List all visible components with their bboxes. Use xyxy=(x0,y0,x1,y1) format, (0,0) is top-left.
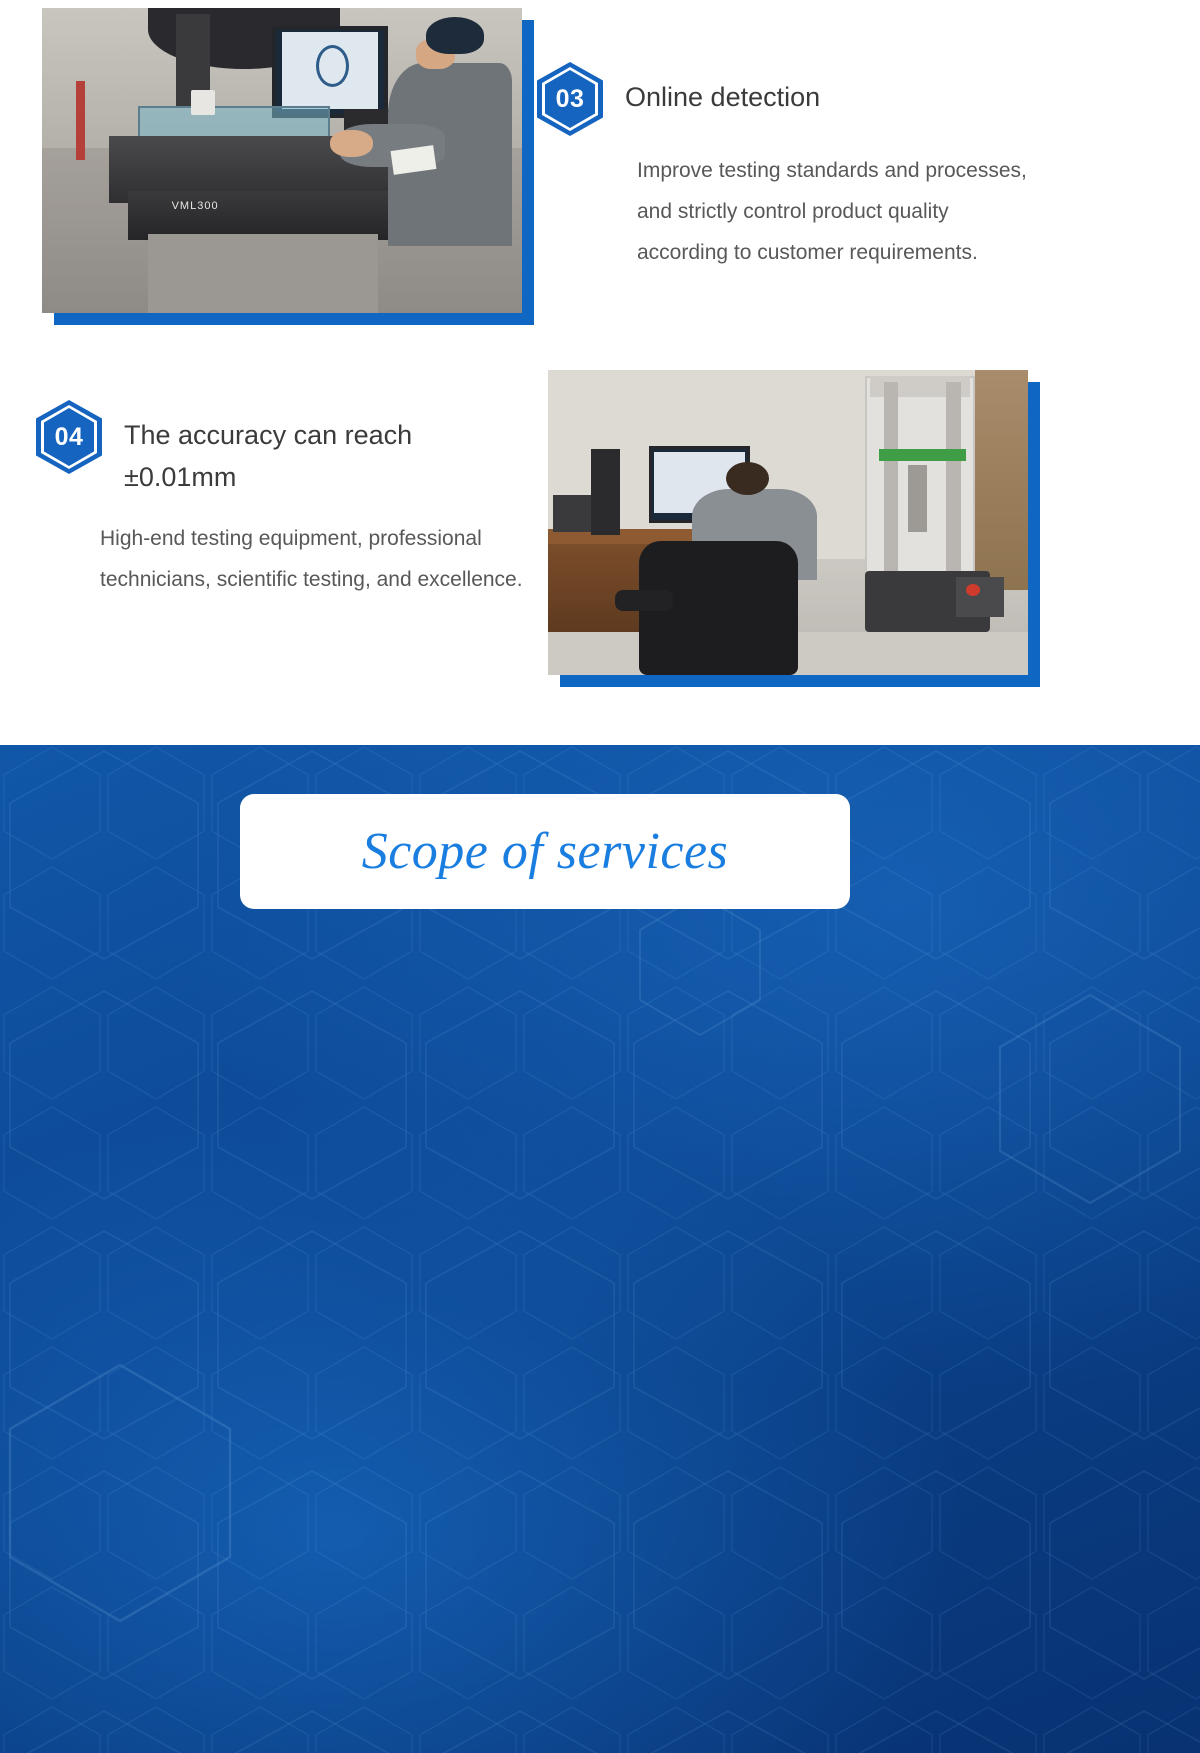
feature-03-number-badge: 03 xyxy=(537,62,603,136)
photo2-machine-post-left xyxy=(884,382,898,571)
photo1-operator-hand xyxy=(330,130,373,157)
feature-04-number: 04 xyxy=(55,423,84,452)
feature-block-04: 04 The accuracy can reach ±0.01mm High-e… xyxy=(36,400,536,600)
photo1-sample-part xyxy=(191,90,215,114)
feature-03-body: Improve testing standards and processes,… xyxy=(637,150,1037,273)
feature-04-number-badge: 04 xyxy=(36,400,102,474)
photo-accuracy-testing-image xyxy=(548,370,1028,675)
photo2-engineer-head xyxy=(726,462,769,496)
feature-03-head: 03 Online detection xyxy=(537,62,1037,136)
feature-03-number: 03 xyxy=(556,85,585,114)
photo2-control-panel xyxy=(956,577,1004,617)
photo1-screen-circle-graphic xyxy=(316,45,350,88)
feature-04-body: High-end testing equipment, professional… xyxy=(100,518,550,600)
feature-04-head: 04 The accuracy can reach ±0.01mm xyxy=(36,400,536,498)
photo2-printer xyxy=(553,495,596,532)
photo1-operator-cap xyxy=(426,17,484,54)
photo2-specimen-grip xyxy=(908,465,927,532)
scope-heading-box: Scope of services xyxy=(240,794,850,909)
photo2-chair-armrest xyxy=(615,590,673,611)
scope-heading-text: Scope of services xyxy=(362,822,729,881)
photo1-cabinet xyxy=(148,234,378,313)
detection-features-section: VML300 03 Online detection Improve testi… xyxy=(0,0,1200,745)
feature-block-03: 03 Online detection Improve testing stan… xyxy=(537,62,1037,273)
photo1-machine-model-label: VML300 xyxy=(172,200,234,215)
photo1-red-pole xyxy=(76,81,86,160)
feature-04-title: The accuracy can reach ±0.01mm xyxy=(124,400,494,498)
photo1-machine-lower-base xyxy=(128,191,387,240)
photo2-machine-post-right xyxy=(946,382,960,571)
photo2-door xyxy=(975,370,1028,590)
photo2-green-crossbar xyxy=(879,449,965,461)
scope-of-services-section: Scope of services xyxy=(0,745,1200,1753)
photo-online-detection: VML300 xyxy=(42,8,522,313)
feature-03-title: Online detection xyxy=(625,62,820,118)
photo2-emergency-stop-button xyxy=(966,584,980,596)
photo2-computer-tower xyxy=(591,449,620,534)
photo-accuracy-testing xyxy=(548,370,1028,675)
photo-online-detection-image: VML300 xyxy=(42,8,522,313)
